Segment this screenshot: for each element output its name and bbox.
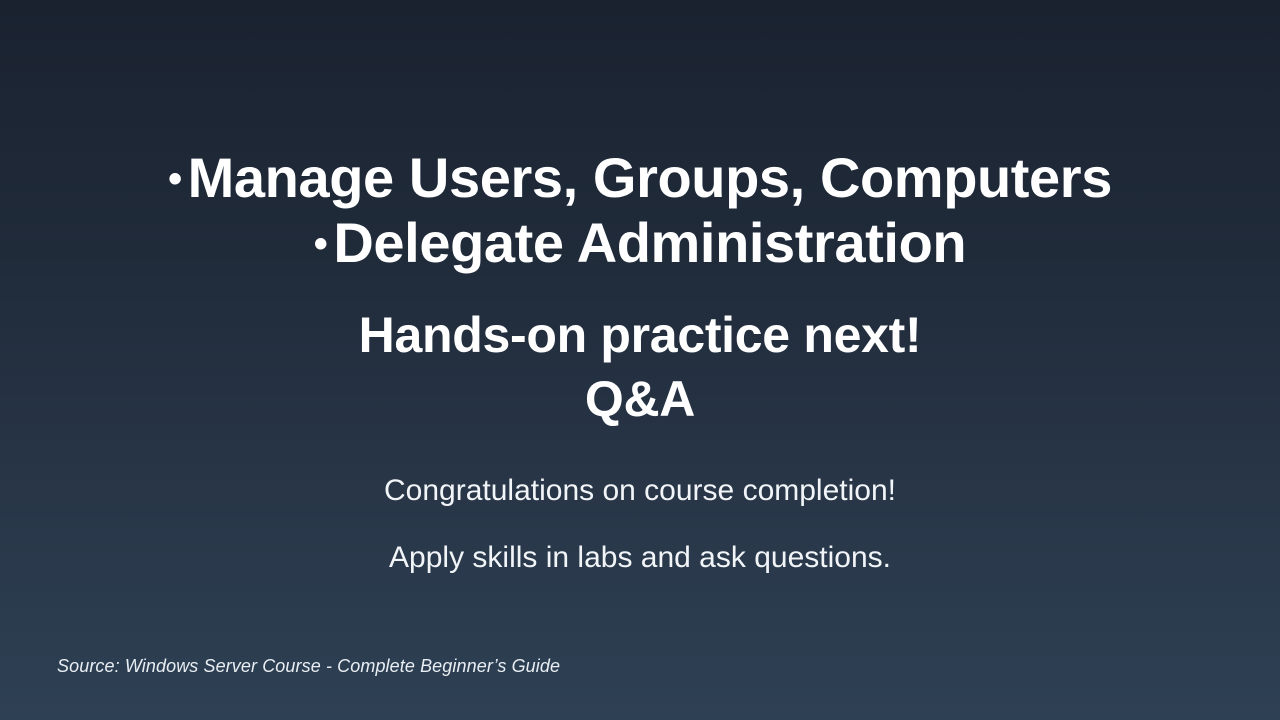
body-line-primary: Congratulations on course completion! [0,470,1280,511]
bullet-dot-icon: • [168,157,182,201]
heading-group: Hands-on practice next! Q&A [0,303,1280,431]
source-caption: Source: Windows Server Course - Complete… [57,656,560,677]
slide-content: •Manage Users, Groups, Computers •Delega… [0,0,1280,720]
page-subtitle: Q&A [0,367,1280,431]
page-title: Hands-on practice next! [0,303,1280,367]
bullet-item-label: Manage Users, Groups, Computers [188,146,1112,209]
list-item: •Manage Users, Groups, Computers [0,146,1280,211]
body-line-secondary: Apply skills in labs and ask questions. [0,537,1280,578]
bullet-item-label: Delegate Administration [333,211,966,274]
list-item: •Delegate Administration [0,211,1280,276]
presentation-slide: •Manage Users, Groups, Computers •Delega… [0,0,1280,720]
bullet-list: •Manage Users, Groups, Computers •Delega… [0,146,1280,276]
bullet-dot-icon: • [314,222,328,266]
body-text-group: Congratulations on course completion! Ap… [0,470,1280,578]
